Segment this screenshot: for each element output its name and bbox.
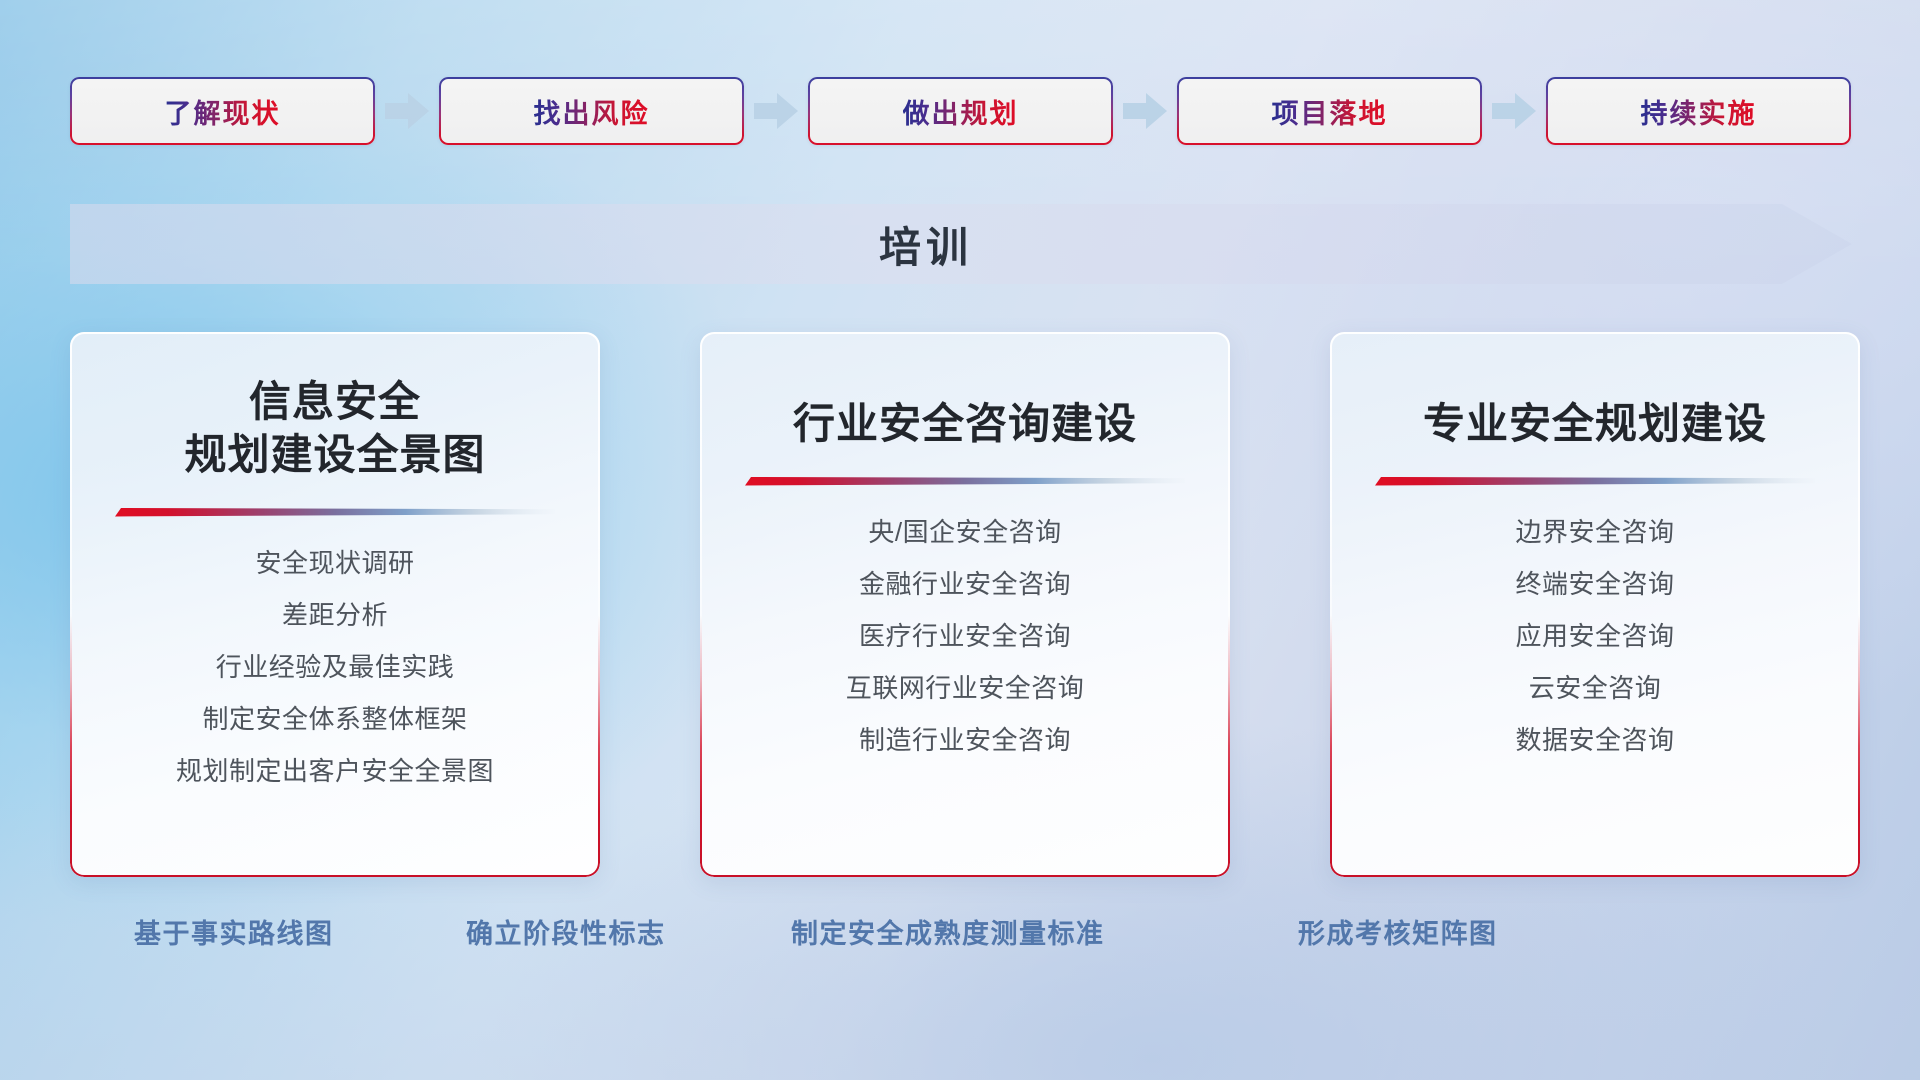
service-card-divider (115, 504, 555, 520)
step-label: 项目落地 (1272, 92, 1388, 131)
list-item: 制造行业安全咨询 (700, 727, 1230, 753)
right-arrow-icon (384, 92, 430, 130)
training-banner-label: 培训 (70, 204, 1852, 284)
tapered-gradient-rule-icon (115, 504, 555, 520)
list-item: 云安全咨询 (1330, 675, 1860, 701)
service-card-divider (1375, 473, 1815, 489)
service-card-row: 信息安全 规划建设全景图安全现状调研差距分析行业经验及最佳实践制定安全体系整体框… (70, 332, 1860, 877)
caption-row: 基于事实路线图确立阶段性标志制定安全成熟度测量标准形成考核矩阵图 (0, 912, 1920, 956)
right-arrow-icon (753, 92, 799, 130)
training-banner: 培训 (70, 204, 1852, 284)
list-item: 制定安全体系整体框架 (70, 706, 600, 732)
tapered-gradient-rule-icon (1375, 473, 1815, 489)
service-card-content: 行业安全咨询建设央/国企安全咨询金融行业安全咨询医疗行业安全咨询互联网行业安全咨… (700, 332, 1230, 877)
service-card-3[interactable]: 专业安全规划建设边界安全咨询终端安全咨询应用安全咨询云安全咨询数据安全咨询 (1330, 332, 1860, 877)
service-card-list: 边界安全咨询终端安全咨询应用安全咨询云安全咨询数据安全咨询 (1330, 519, 1860, 779)
step-label: 持续实施 (1641, 92, 1757, 131)
list-item: 边界安全咨询 (1330, 519, 1860, 545)
list-item: 数据安全咨询 (1330, 727, 1860, 753)
caption-1: 基于事实路线图 (134, 912, 334, 951)
list-item: 央/国企安全咨询 (700, 519, 1230, 545)
list-item: 行业经验及最佳实践 (70, 654, 600, 680)
step-box-3[interactable]: 做出规划 (808, 77, 1113, 145)
step-box-4[interactable]: 项目落地 (1177, 77, 1482, 145)
service-card-title: 信息安全 规划建设全景图 (184, 376, 485, 482)
service-card-divider-wrap (1330, 451, 1860, 489)
list-item: 差距分析 (70, 602, 600, 628)
infographic-stage: 了解现状找出风险做出规划项目落地持续实施 培训 信息安全 规划建设全景图安全现状… (0, 0, 1920, 1080)
step-label: 找出风险 (534, 92, 650, 131)
step-connector-arrow (744, 88, 808, 134)
list-item: 金融行业安全咨询 (700, 571, 1230, 597)
step-box-2[interactable]: 找出风险 (439, 77, 744, 145)
service-card-2[interactable]: 行业安全咨询建设央/国企安全咨询金融行业安全咨询医疗行业安全咨询互联网行业安全咨… (700, 332, 1230, 877)
step-box-1[interactable]: 了解现状 (70, 77, 375, 145)
service-card-list: 央/国企安全咨询金融行业安全咨询医疗行业安全咨询互联网行业安全咨询制造行业安全咨… (700, 519, 1230, 779)
process-step-row: 了解现状找出风险做出规划项目落地持续实施 (70, 76, 1852, 146)
step-label: 做出规划 (903, 92, 1019, 131)
list-item: 医疗行业安全咨询 (700, 623, 1230, 649)
right-arrow-icon (1491, 92, 1537, 130)
step-connector-arrow (1113, 88, 1177, 134)
service-card-content: 信息安全 规划建设全景图安全现状调研差距分析行业经验及最佳实践制定安全体系整体框… (70, 332, 600, 877)
tapered-gradient-rule-icon (745, 473, 1185, 489)
service-card-divider (745, 473, 1185, 489)
list-item: 规划制定出客户安全全景图 (70, 758, 600, 784)
list-item: 安全现状调研 (70, 550, 600, 576)
service-card-divider-wrap (700, 451, 1230, 489)
caption-3: 制定安全成熟度测量标准 (791, 912, 1105, 951)
service-card-divider-wrap (70, 482, 600, 520)
service-card-title: 专业安全规划建设 (1423, 398, 1767, 451)
step-label: 了解现状 (165, 92, 281, 131)
list-item: 互联网行业安全咨询 (700, 675, 1230, 701)
right-arrow-icon (1122, 92, 1168, 130)
step-connector-arrow (1482, 88, 1546, 134)
list-item: 应用安全咨询 (1330, 623, 1860, 649)
service-card-title: 行业安全咨询建设 (793, 398, 1137, 451)
service-card-content: 专业安全规划建设边界安全咨询终端安全咨询应用安全咨询云安全咨询数据安全咨询 (1330, 332, 1860, 877)
caption-4: 形成考核矩阵图 (1298, 912, 1498, 951)
list-item: 终端安全咨询 (1330, 571, 1860, 597)
caption-2: 确立阶段性标志 (466, 912, 666, 951)
step-box-5[interactable]: 持续实施 (1546, 77, 1851, 145)
service-card-1[interactable]: 信息安全 规划建设全景图安全现状调研差距分析行业经验及最佳实践制定安全体系整体框… (70, 332, 600, 877)
service-card-list: 安全现状调研差距分析行业经验及最佳实践制定安全体系整体框架规划制定出客户安全全景… (70, 550, 600, 810)
step-connector-arrow (375, 88, 439, 134)
